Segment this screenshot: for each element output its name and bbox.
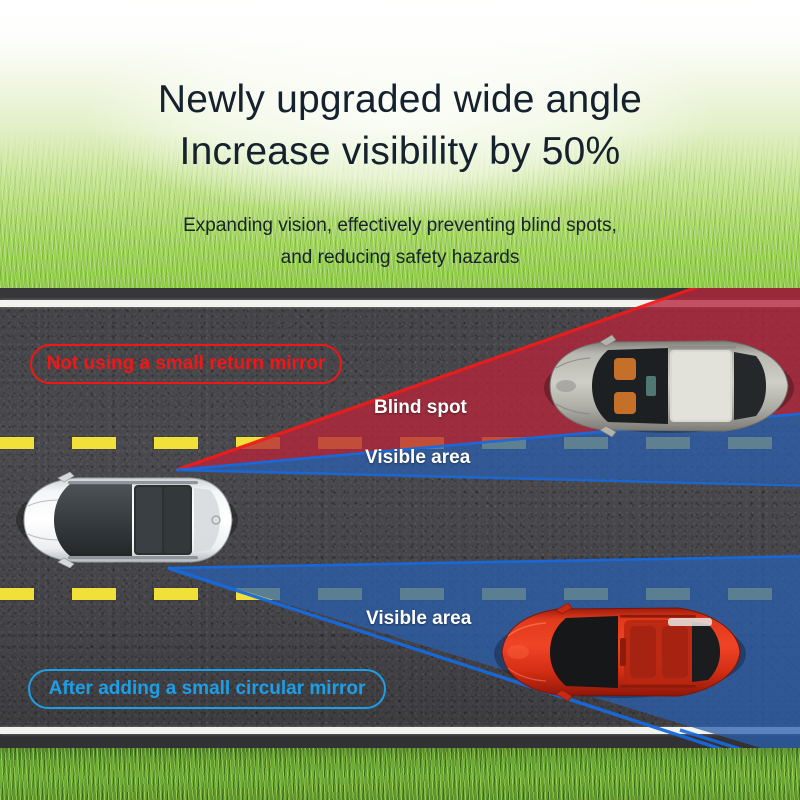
headline-line-1: Newly upgraded wide angle [0, 74, 800, 126]
lane-dash [154, 588, 198, 600]
lane-dash [72, 437, 116, 449]
lane-dash [236, 437, 280, 449]
page-title: Newly upgraded wide angle Increase visib… [0, 74, 800, 178]
road-edge-line-bottom [0, 727, 800, 734]
lane-dash [72, 588, 116, 600]
road-shoulder-top [0, 288, 800, 300]
badge-with-mirror: After adding a small circular mirror [28, 669, 386, 709]
header-section: Newly upgraded wide angle Increase visib… [0, 0, 800, 288]
interior-seat-right [614, 392, 636, 414]
lane-dash [0, 588, 34, 600]
label-visible-area-bottom: Visible area [366, 608, 471, 630]
ego-car-white [14, 468, 240, 572]
lane-dash [400, 588, 444, 600]
lane-dash [236, 588, 280, 600]
silver-car [542, 332, 796, 440]
headline-line-2: Increase visibility by 50% [0, 126, 800, 178]
red-car [492, 598, 748, 706]
lane-dash [0, 437, 34, 449]
lane-dash [482, 437, 526, 449]
subhead-line-1: Expanding vision, effectively preventing… [0, 210, 800, 242]
label-blind-spot: Blind spot [374, 397, 467, 419]
lane-dash [154, 437, 198, 449]
road-edge-line-top [0, 300, 800, 307]
lane-dash [318, 437, 362, 449]
subhead-line-2: and reducing safety hazards [0, 242, 800, 274]
lane-dash [318, 588, 362, 600]
grass-strip-bottom [0, 748, 800, 800]
interior-seat-left [614, 358, 636, 380]
badge-without-mirror: Not using a small return mirror [30, 344, 342, 384]
label-visible-area-top: Visible area [365, 447, 470, 469]
page-subtitle: Expanding vision, effectively preventing… [0, 210, 800, 274]
road-shoulder-bottom [0, 734, 800, 748]
grass-texture-bottom [0, 748, 800, 800]
poster-root: Newly upgraded wide angle Increase visib… [0, 0, 800, 800]
